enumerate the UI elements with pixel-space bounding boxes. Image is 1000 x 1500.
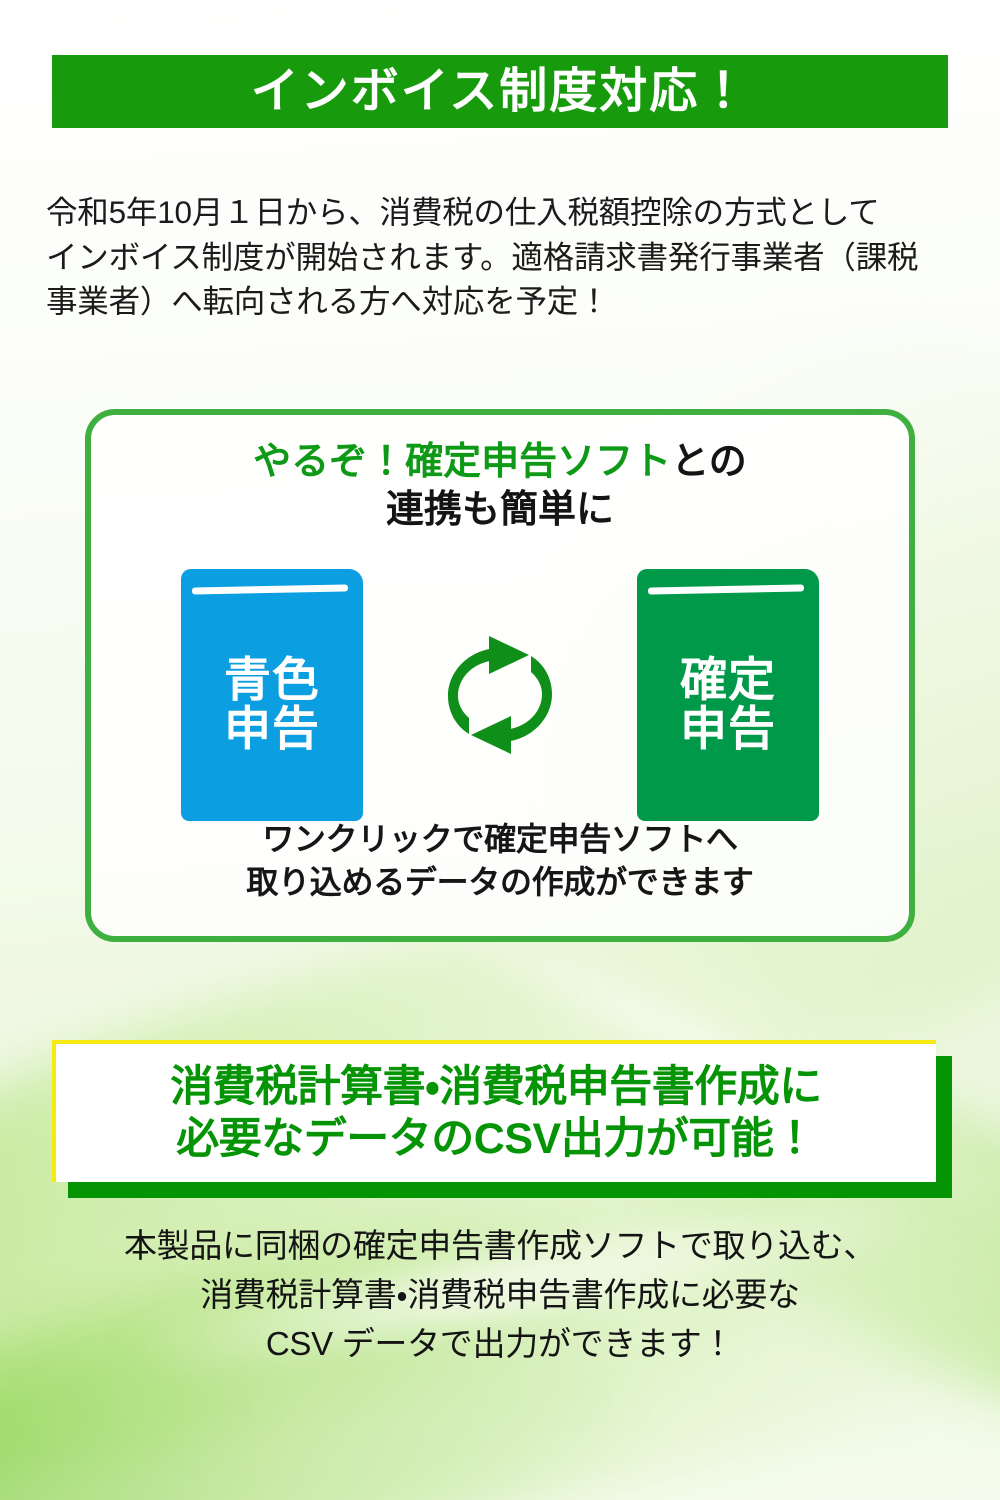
book-label-blue-line-1: 青色 <box>224 656 320 705</box>
card-caption: ワンクリックで確定申告ソフトへ 取り込めるデータの作成ができます <box>91 818 909 904</box>
books-row: 青色 申告 確定 申告 <box>91 567 909 822</box>
book-spine <box>192 584 348 594</box>
book-label-green: 確定 申告 <box>680 656 776 754</box>
intro-line-2: インボイス制度が開始されます。適格請求書発行事業者（課税 <box>46 235 962 280</box>
promo-page: インボイス制度対応！ 令和5年10月１日から、消費税の仕入税額控除の方式として … <box>0 0 1000 1500</box>
card-heading-tail: との <box>671 441 747 483</box>
footer-line-2: 消費税計算書・消費税申告書作成に必要な <box>0 1271 1000 1320</box>
card-heading: やるぞ！確定申告ソフトとの 連携も簡単に <box>91 439 909 534</box>
sync-arrows-icon <box>431 632 569 758</box>
integration-card: やるぞ！確定申告ソフトとの 連携も簡単に 青色 申告 <box>85 409 915 942</box>
footer-line-3: CSV データで出力ができます！ <box>0 1320 1000 1369</box>
book-label-blue: 青色 申告 <box>224 656 320 754</box>
csv-callout-banner: 消費税計算書・消費税申告書作成に 必要なデータのCSV出力が可能！ <box>52 1040 936 1184</box>
header-title: インボイス制度対応！ <box>251 68 750 116</box>
csv-banner-inner: 消費税計算書・消費税申告書作成に 必要なデータのCSV出力が可能！ <box>52 1040 936 1182</box>
intro-line-3: 事業者）へ転向される方へ対応を予定！ <box>46 279 962 324</box>
card-caption-line-1: ワンクリックで確定申告ソフトへ <box>91 818 909 861</box>
card-heading-line-1: やるぞ！確定申告ソフトとの <box>91 439 909 487</box>
header-banner: インボイス制度対応！ <box>52 55 948 128</box>
card-heading-accent: やるぞ！確定申告ソフト <box>253 441 671 483</box>
book-spine <box>648 584 804 594</box>
intro-line-1: 令和5年10月１日から、消費税の仕入税額控除の方式として <box>46 190 962 235</box>
intro-paragraph: 令和5年10月１日から、消費税の仕入税額控除の方式として インボイス制度が開始さ… <box>46 190 962 324</box>
footer-paragraph: 本製品に同梱の確定申告書作成ソフトで取り込む、 消費税計算書・消費税申告書作成に… <box>0 1222 1000 1368</box>
book-label-blue-line-2: 申告 <box>224 705 320 754</box>
card-caption-line-2: 取り込めるデータの作成ができます <box>91 861 909 904</box>
book-label-green-line-1: 確定 <box>680 656 776 705</box>
card-heading-line-2: 連携も簡単に <box>91 487 909 535</box>
footer-line-1: 本製品に同梱の確定申告書作成ソフトで取り込む、 <box>0 1222 1000 1271</box>
csv-banner-line-2: 必要なデータのCSV出力が可能！ <box>176 1113 815 1165</box>
book-icon-green-return: 確定 申告 <box>637 569 819 821</box>
book-label-green-line-2: 申告 <box>680 705 776 754</box>
book-icon-blue-return: 青色 申告 <box>181 569 363 821</box>
csv-banner-line-1: 消費税計算書・消費税申告書作成に <box>170 1061 822 1113</box>
